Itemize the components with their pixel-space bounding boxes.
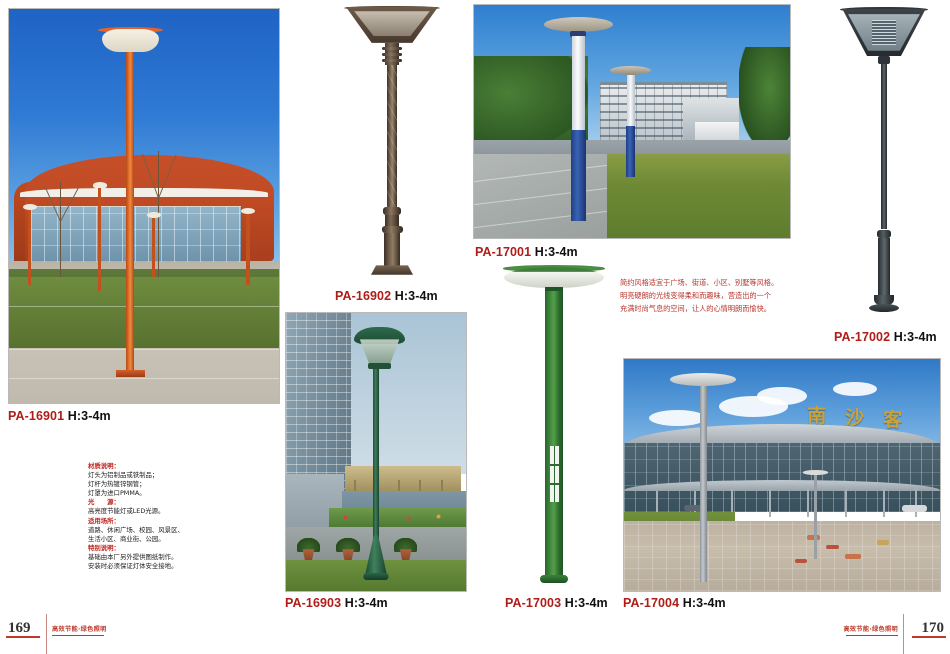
canopy-column <box>807 487 809 517</box>
spec-line: 基础由本厂另外提供图纸制作。 <box>88 553 238 562</box>
tree-right <box>739 47 790 150</box>
footer-right-page: 高效节能·绿色照明 170 <box>750 612 950 654</box>
base-collar <box>877 230 891 238</box>
product-code: PA-17003 <box>505 596 561 610</box>
window-grid <box>550 446 559 502</box>
plaza-paving <box>624 521 940 591</box>
description-line: 明亮硬朗的光线变得柔和而趣味，营造出的一个 <box>620 289 820 302</box>
label-pa-16902: PA-16902 H:3-4m <box>335 289 438 303</box>
main-lamp-disc <box>670 373 736 386</box>
neck-ring <box>382 47 402 50</box>
product-code: PA-16902 <box>335 289 391 303</box>
main-lamp-base <box>116 370 146 378</box>
spec-line: 灯罩为进口PMMA。 <box>88 489 238 498</box>
spec-heading-notes: 特别说明： <box>88 544 238 553</box>
spec-line: 安装时必须保证灯体安全接地。 <box>88 562 238 571</box>
lamp-a-white-section <box>572 36 585 129</box>
lamp-base-plate <box>363 573 388 580</box>
product-height: H:3-4m <box>395 289 438 303</box>
canopy-column <box>915 487 917 517</box>
product-photo-pa-16902[interactable] <box>322 4 462 282</box>
background-lamp-pole <box>246 214 250 285</box>
description-block: 简约风格适宜于广场、街道、小区、别墅等风格。 明亮硬朗的光线变得柔和而趣味，营造… <box>620 276 820 315</box>
footer-slogan-left: 高效节能·绿色照明 <box>52 624 107 633</box>
footer-rule <box>52 635 104 636</box>
cloud <box>833 382 877 396</box>
lawn-lower <box>9 277 279 348</box>
lamp-shaft <box>881 64 887 229</box>
scene-orange-pole-red-building <box>9 9 279 403</box>
footer-divider <box>46 614 47 654</box>
footer-rule <box>912 636 946 638</box>
main-lamp-pole <box>126 48 134 375</box>
background-lamp-pole <box>152 218 156 277</box>
terminal-glass-facade <box>624 443 940 513</box>
lamp-column <box>545 287 564 576</box>
lamp-collar <box>878 56 890 64</box>
spec-line: 灯头为铝制品或铁制品； <box>88 471 238 480</box>
product-code: PA-16901 <box>8 409 64 423</box>
footer-slogan-right: 高效节能·绿色照明 <box>843 624 898 633</box>
product-photo-pa-17004[interactable]: 南 沙 客 <box>623 358 941 592</box>
background-lamp-pole <box>28 210 32 285</box>
studio-cutout-green-column <box>492 260 616 592</box>
product-photo-pa-17003[interactable] <box>492 260 616 592</box>
description-line: 充满时尚气息的空间，让人的心情明朗而愉快。 <box>620 302 820 315</box>
product-code: PA-17001 <box>475 245 531 259</box>
spec-line: 高亮度节能灯或LED光源。 <box>88 507 238 516</box>
product-photo-pa-16901[interactable] <box>8 8 280 404</box>
spec-heading-material: 材质说明： <box>88 462 238 471</box>
paving-pattern <box>624 521 940 591</box>
lamp-a-disc <box>544 17 614 32</box>
product-height: H:3-4m <box>535 245 578 259</box>
disc-diffuser <box>504 267 603 289</box>
canopy-column <box>769 489 771 517</box>
paving-accent <box>826 545 839 550</box>
paving-joint <box>9 378 279 379</box>
footer-rule <box>846 635 898 636</box>
shaft-twist-pattern <box>387 65 397 207</box>
lamp-pole <box>373 369 379 547</box>
base-body <box>878 238 889 302</box>
paving-joint <box>9 306 279 307</box>
base-plate <box>371 265 413 274</box>
lawn <box>588 154 790 238</box>
spec-heading-application: 适用场所： <box>88 517 238 526</box>
footer-left-page: 169 高效节能·绿色照明 <box>0 612 200 654</box>
product-height: H:3-4m <box>68 409 111 423</box>
spec-line: 道路、休闲广场、校园、风景区、 <box>88 526 238 535</box>
building-white-band <box>20 188 268 197</box>
flowers <box>329 508 466 527</box>
background-lamp-pole <box>98 188 102 290</box>
neck-ring <box>382 53 402 56</box>
shade-collar <box>368 363 391 369</box>
flower-bed <box>329 508 466 527</box>
product-height: H:3-4m <box>894 330 937 344</box>
main-lamp-pole <box>700 380 707 582</box>
lamp-b-blue-section <box>626 126 636 177</box>
neck-ring <box>382 59 402 62</box>
label-pa-17004: PA-17004 H:3-4m <box>623 596 726 610</box>
page-number-right: 170 <box>922 620 945 637</box>
label-pa-17002: PA-17002 H:3-4m <box>834 330 937 344</box>
specification-block: 材质说明： 灯头为铝制品或铁制品； 灯杆为热镀锌钢管； 灯罩为进口PMMA。 光… <box>88 462 238 571</box>
spec-line: 灯杆为热镀锌钢管； <box>88 480 238 489</box>
paving-accent <box>795 559 808 564</box>
lamp-louver <box>872 20 895 45</box>
studio-cutout-bronze-lamp <box>322 4 462 282</box>
base-plate <box>869 304 899 312</box>
scene-terminal-plaza: 南 沙 客 <box>624 359 940 591</box>
base-collar-lower <box>382 226 403 233</box>
secondary-lamp-pole <box>814 475 817 559</box>
base-body <box>384 233 401 266</box>
column-base-plate <box>540 575 567 583</box>
scene-blue-posts-campus <box>474 5 790 238</box>
label-pa-17001: PA-17001 H:3-4m <box>475 245 578 259</box>
product-height: H:3-4m <box>565 596 608 610</box>
canopy-column <box>845 487 847 517</box>
sign-char-3: 客 <box>883 405 902 432</box>
description-line: 简约风格适宜于广场、街道、小区、别墅等风格。 <box>620 276 820 289</box>
product-photo-pa-16903[interactable] <box>285 312 467 592</box>
paving-joint <box>9 349 279 350</box>
canopy-column <box>883 487 885 517</box>
column-cap-ring <box>545 287 564 291</box>
paving-accent <box>877 540 890 545</box>
spec-line: 生活小区、商业街、公园。 <box>88 535 238 544</box>
label-pa-16903: PA-16903 H:3-4m <box>285 596 388 610</box>
product-code: PA-16903 <box>285 596 341 610</box>
footer-divider <box>903 614 904 654</box>
pergola-roof <box>345 466 460 491</box>
tree-trunk <box>60 182 61 277</box>
lamp-a-blue-section <box>571 130 586 221</box>
illuminated-window-panel <box>550 446 559 502</box>
base-neck <box>385 215 399 226</box>
studio-cutout-charcoal-lamp <box>826 4 942 322</box>
page-number-left: 169 <box>8 620 31 637</box>
label-pa-16901: PA-16901 H:3-4m <box>8 409 111 423</box>
facade-mullions <box>624 443 940 513</box>
main-lamp-diffuser <box>102 29 159 51</box>
scene-green-pole-tower <box>286 313 466 591</box>
catalog-spread: PA-16901 H:3-4m PA-16902 H:3-4m <box>0 0 950 654</box>
product-code: PA-17002 <box>834 330 890 344</box>
product-photo-pa-17001[interactable] <box>473 4 791 239</box>
label-pa-17003: PA-17003 H:3-4m <box>505 596 608 610</box>
paving-accent <box>845 554 861 559</box>
lamp-b-white-section <box>627 75 635 126</box>
product-height: H:3-4m <box>345 596 388 610</box>
parked-car <box>902 505 927 512</box>
base-collar-upper <box>383 207 401 215</box>
lamp-b-disc <box>610 66 651 75</box>
product-photo-pa-17002[interactable] <box>826 4 942 322</box>
product-height: H:3-4m <box>683 596 726 610</box>
secondary-lamp-disc <box>803 470 828 475</box>
product-code: PA-17004 <box>623 596 679 610</box>
